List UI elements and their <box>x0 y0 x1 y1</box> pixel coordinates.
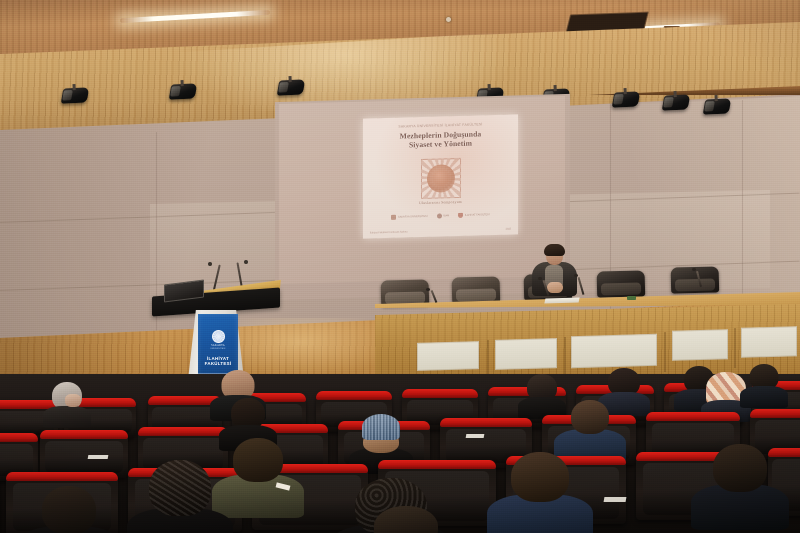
track-spotlight-icon <box>663 94 690 110</box>
audience-member <box>222 398 274 442</box>
slide-caption: Uluslararası Sempozyum <box>363 198 518 206</box>
sponsor-logo-3: İLAHİYAT FAKÜLTESİ <box>458 212 489 218</box>
seat-paper-tag <box>88 455 109 459</box>
audience-member <box>356 506 456 533</box>
microphone-icon <box>244 260 248 264</box>
panel-table-divider <box>487 340 489 376</box>
sponsor-mark-shield-icon <box>458 213 463 218</box>
audience-member-with-takke <box>352 414 410 464</box>
track-spotlight-icon <box>62 87 89 103</box>
microphone-icon <box>574 274 578 277</box>
panel-table-inset <box>741 326 797 358</box>
panel-table-top <box>375 292 800 308</box>
sponsor-mark-round-icon <box>437 213 442 218</box>
audience-member <box>24 486 114 533</box>
audience-member <box>132 460 228 533</box>
audience-member <box>520 374 564 412</box>
slide-title: Mezheplerin Doğuşunda Siyaset ve Yönetim <box>369 128 512 151</box>
slide-footer-left: İlahiyat Fakültesi Konferans Salonu <box>370 230 407 234</box>
university-emblem-icon <box>212 330 225 343</box>
papers-on-table <box>544 298 579 304</box>
sponsor-logo-1: SAKARYA ÜNİVERSİTESİ <box>391 214 427 220</box>
audience-member <box>216 438 300 506</box>
lectern: SAKARYA ÜNİVERSİTESİ İLAHİYAT FAKÜLTESİ <box>150 262 282 380</box>
ceiling-sprinkler-icon <box>446 17 451 22</box>
lectern-faculty-name: İLAHİYAT FAKÜLTESİ <box>205 356 232 366</box>
presentation-slide: SAKARYA ÜNİVERSİTESİ İLAHİYAT FAKÜLTESİ … <box>363 114 518 238</box>
seat-paper-tag <box>604 497 627 502</box>
seat-paper-tag <box>466 434 485 438</box>
audience-member <box>492 452 588 526</box>
projection-screen: SAKARYA ÜNİVERSİTESİ İLAHİYAT FAKÜLTESİ … <box>279 96 565 284</box>
slide-footer: İlahiyat Fakültesi Konferans Salonu 2023 <box>370 228 511 235</box>
microphone-icon <box>692 268 696 271</box>
sponsor-logo-1-text: SAKARYA ÜNİVERSİTESİ <box>398 215 428 219</box>
lectern-branding-panel: SAKARYA ÜNİVERSİTESİ İLAHİYAT FAKÜLTESİ <box>198 314 238 378</box>
panel-table-inset <box>571 334 657 368</box>
seated-speaker <box>528 246 580 298</box>
speaker-hair <box>544 244 565 256</box>
slide-ornament-medallion-icon <box>421 158 461 199</box>
sponsor-logo-2: İSAM <box>437 213 450 218</box>
track-spotlight-icon <box>704 98 731 114</box>
lectern-university-name: SAKARYA <box>211 344 225 347</box>
panel-table-divider <box>664 332 666 372</box>
microphone-icon <box>426 288 430 291</box>
slide-logo-row: SAKARYA ÜNİVERSİTESİ İSAM İLAHİYAT FAKÜL… <box>373 210 508 223</box>
sponsor-logo-2-text: İSAM <box>443 214 449 217</box>
slide-footer-right: 2023 <box>506 228 511 231</box>
sponsor-mark-square-icon <box>391 215 396 220</box>
panel-table <box>375 292 800 378</box>
panel-table-inset <box>417 341 479 371</box>
panel-table-inset <box>672 329 728 361</box>
auditorium-seat <box>40 430 128 478</box>
track-spotlight-icon <box>278 79 305 95</box>
panel-table-divider <box>564 337 566 375</box>
audience-member <box>742 364 786 402</box>
track-spotlight-icon <box>613 91 640 107</box>
track-spotlight-icon <box>170 83 197 99</box>
microphone-icon <box>538 277 542 280</box>
small-object-on-table <box>627 296 636 300</box>
panel-table-divider <box>734 328 736 368</box>
audience-member <box>62 394 84 410</box>
lectern-university-sub: ÜNİVERSİTESİ <box>211 348 226 350</box>
panel-table-inset <box>495 338 557 370</box>
audience-member <box>560 400 620 452</box>
sponsor-logo-3-text: İLAHİYAT FAKÜLTESİ <box>465 213 490 217</box>
microphone-icon <box>208 262 212 266</box>
audience-member <box>696 444 784 514</box>
auditorium-photo: SAKARYA ÜNİVERSİTESİ İLAHİYAT FAKÜLTESİ … <box>0 0 800 533</box>
knitted-skullcap-icon <box>362 414 400 440</box>
lectern-faculty-line-2: FAKÜLTESİ <box>205 361 232 366</box>
